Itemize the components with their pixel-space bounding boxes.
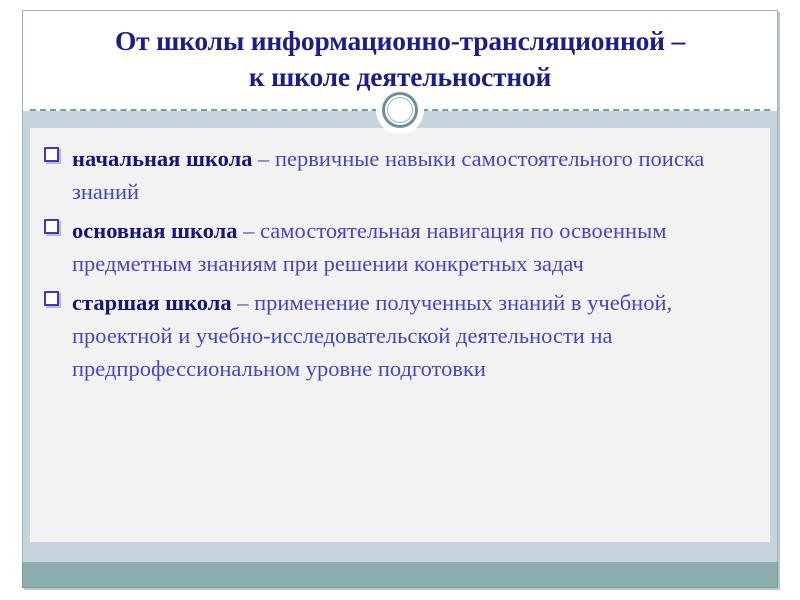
list-item: начальная школа – первичные навыки самос… xyxy=(38,142,750,208)
page-title: От школы информационно-трансляционной – … xyxy=(23,23,777,95)
list-item: основная школа – самостоятельная навигац… xyxy=(38,214,750,280)
slide-footer-band xyxy=(22,562,778,588)
slide-content-panel: начальная школа – первичные навыки самос… xyxy=(30,128,770,542)
list-item-lead: старшая школа xyxy=(72,290,232,315)
bullet-list: начальная школа – первичные навыки самос… xyxy=(38,142,750,385)
presentation-slide: От школы информационно-трансляционной – … xyxy=(0,0,800,600)
hollow-square-bullet-icon xyxy=(44,147,59,162)
list-item: старшая школа – применение полученных зн… xyxy=(38,286,750,385)
page-title-line-1: От школы информационно-трансляционной – xyxy=(23,23,777,59)
ring-ornament-inner-icon xyxy=(387,97,413,123)
list-item-lead: основная школа xyxy=(72,218,238,243)
hollow-square-bullet-icon xyxy=(44,291,59,306)
list-item-lead: начальная школа xyxy=(72,146,252,171)
hollow-square-bullet-icon xyxy=(44,219,59,234)
